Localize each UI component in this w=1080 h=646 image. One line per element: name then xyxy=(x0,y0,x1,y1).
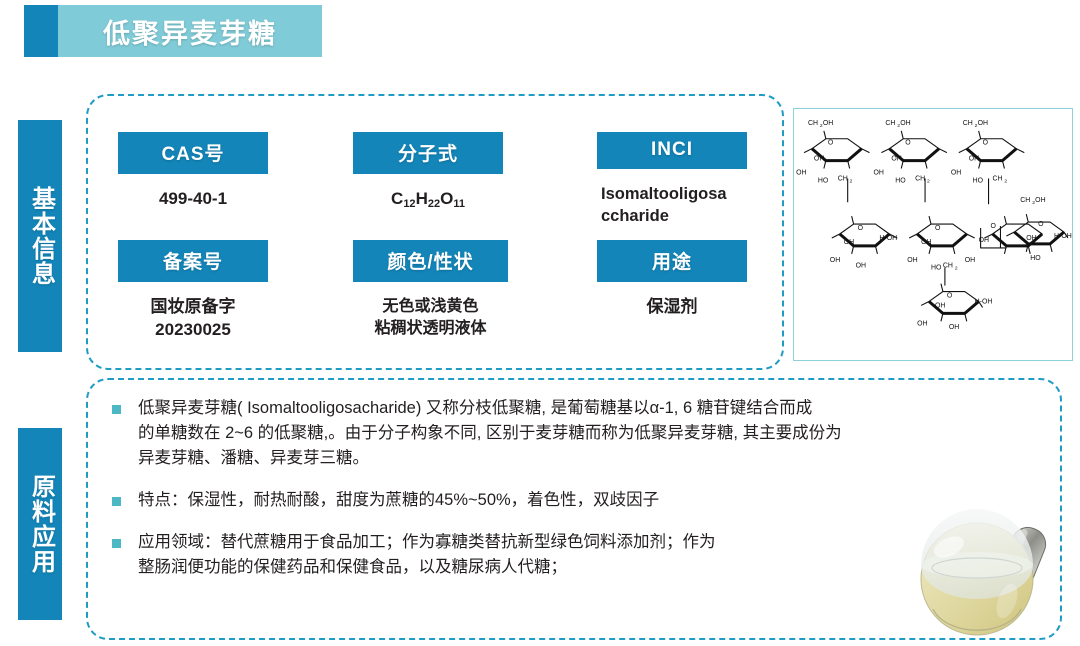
svg-text:CH: CH xyxy=(885,120,895,127)
svg-text:H-OH: H-OH xyxy=(879,235,897,242)
formula-c-sub: 12 xyxy=(403,198,415,210)
formula-o: O xyxy=(440,189,453,208)
svg-text:HO: HO xyxy=(931,265,942,272)
svg-text:2: 2 xyxy=(955,266,958,272)
svg-text:OH: OH xyxy=(979,237,989,244)
info-card-molecular-formula: 分子式 C12H22O11 xyxy=(353,132,503,212)
info-card-color-appearance: 颜色/性状 无色或浅黄色 粘稠状透明液体 xyxy=(353,240,508,339)
svg-text:OH: OH xyxy=(873,169,883,176)
card-value-usage: 保湿剂 xyxy=(597,296,747,319)
svg-text:OH: OH xyxy=(921,239,931,246)
svg-text:CH: CH xyxy=(943,263,953,270)
svg-text:OH: OH xyxy=(814,156,824,163)
svg-text:OH: OH xyxy=(856,263,866,270)
svg-text:OH: OH xyxy=(1035,197,1045,204)
chemical-structure-image: CH2OH CH2OH CH2OH CH2OH OOO OOOO O OHOHO… xyxy=(793,108,1073,361)
svg-text:O: O xyxy=(1038,221,1044,228)
inci-line-2: ccharide xyxy=(601,205,747,227)
svg-text:OH: OH xyxy=(844,239,854,246)
svg-text:H-OH: H-OH xyxy=(1054,233,1072,240)
svg-text:OH: OH xyxy=(1026,235,1036,242)
svg-text:HO: HO xyxy=(1030,255,1041,262)
inci-line-1: Isomaltooligosa xyxy=(601,183,747,205)
svg-text:HO: HO xyxy=(818,177,829,184)
formula-h: H xyxy=(416,189,428,208)
info-card-usage: 用途 保湿剂 xyxy=(597,240,747,319)
bullet-text: 特点：保湿性，耐热耐酸，甜度为蔗糖的45%~50%，着色性，双歧因子 xyxy=(138,488,659,513)
svg-text:OH: OH xyxy=(935,302,945,309)
bullet-square-icon xyxy=(112,405,121,414)
svg-text:OH: OH xyxy=(891,156,901,163)
svg-text:OH: OH xyxy=(978,120,988,127)
svg-text:OH: OH xyxy=(949,324,959,331)
svg-text:OH: OH xyxy=(830,257,840,264)
bullet-square-icon xyxy=(112,539,121,548)
card-value-cas: 499-40-1 xyxy=(118,188,268,211)
svg-text:CH: CH xyxy=(963,120,973,127)
svg-text:2: 2 xyxy=(850,178,853,184)
slide-canvas: 低聚异麦芽糖 基本信息 原料应用 CAS号 499-40-1 分子式 C12H2… xyxy=(0,0,1080,646)
card-header-record-number: 备案号 xyxy=(118,240,268,282)
side-tab-application: 原料应用 xyxy=(18,428,62,620)
formula-o-sub: 11 xyxy=(453,198,465,210)
card-value-inci: Isomaltooligosa ccharide xyxy=(597,183,747,228)
bullet-text: 应用领域：替代蔗糖用于食品加工；作为寡糖类替抗新型绿色饲料添加剂；作为 整肠润便… xyxy=(138,530,716,580)
svg-text:CH: CH xyxy=(915,175,925,182)
card-value-record-number: 国妆原备字 20230025 xyxy=(118,296,268,342)
svg-text:CH: CH xyxy=(1020,197,1030,204)
svg-text:OH: OH xyxy=(951,169,961,176)
list-item: 低聚异麦芽糖( Isomaltooligosacharide) 又称分枝低聚糖,… xyxy=(112,396,902,471)
side-tab-basic-info: 基本信息 xyxy=(18,120,62,352)
bullet-text: 低聚异麦芽糖( Isomaltooligosacharide) 又称分枝低聚糖,… xyxy=(138,396,842,471)
svg-text:HO: HO xyxy=(973,177,984,184)
svg-text:O: O xyxy=(983,140,989,147)
info-card-cas: CAS号 499-40-1 xyxy=(118,132,268,211)
application-bullet-list: 低聚异麦芽糖( Isomaltooligosacharide) 又称分枝低聚糖,… xyxy=(112,396,902,597)
card-header-color-appearance: 颜色/性状 xyxy=(353,240,508,282)
header-accent-block xyxy=(24,5,58,57)
svg-text:HO: HO xyxy=(895,177,906,184)
svg-text:CH: CH xyxy=(808,120,818,127)
card-value-molecular-formula: C12H22O11 xyxy=(353,188,503,212)
card-header-inci: INCI xyxy=(597,132,747,169)
info-card-inci: INCI Isomaltooligosa ccharide xyxy=(597,132,747,228)
info-card-record-number: 备案号 国妆原备字 20230025 xyxy=(118,240,268,342)
product-jar-image xyxy=(903,505,1071,645)
svg-text:2: 2 xyxy=(927,178,930,184)
svg-text:OH: OH xyxy=(796,169,806,176)
svg-text:H-OH: H-OH xyxy=(975,298,993,305)
formula-c: C xyxy=(391,189,403,208)
svg-text:OH: OH xyxy=(900,120,910,127)
svg-text:O: O xyxy=(935,225,941,232)
list-item: 应用领域：替代蔗糖用于食品加工；作为寡糖类替抗新型绿色饲料添加剂；作为 整肠润便… xyxy=(112,530,902,580)
svg-text:OH: OH xyxy=(823,120,833,127)
svg-text:OH: OH xyxy=(907,257,917,264)
svg-text:O: O xyxy=(947,292,953,299)
svg-text:CH: CH xyxy=(993,175,1003,182)
svg-text:O: O xyxy=(858,225,864,232)
svg-text:CH: CH xyxy=(838,175,848,182)
svg-text:OH: OH xyxy=(969,156,979,163)
bullet-square-icon xyxy=(112,497,121,506)
formula-h-sub: 22 xyxy=(428,198,440,210)
card-header-usage: 用途 xyxy=(597,240,747,282)
svg-text:O: O xyxy=(991,223,997,230)
svg-text:2: 2 xyxy=(1004,178,1007,184)
svg-text:O: O xyxy=(905,140,911,147)
svg-text:OH: OH xyxy=(965,257,975,264)
card-value-color-appearance: 无色或浅黄色 粘稠状透明液体 xyxy=(353,296,508,339)
card-header-molecular-formula: 分子式 xyxy=(353,132,503,174)
page-title: 低聚异麦芽糖 xyxy=(58,5,322,57)
svg-text:O: O xyxy=(828,140,834,147)
card-header-cas: CAS号 xyxy=(118,132,268,174)
svg-text:OH: OH xyxy=(917,320,927,327)
list-item: 特点：保湿性，耐热耐酸，甜度为蔗糖的45%~50%，着色性，双歧因子 xyxy=(112,488,902,513)
